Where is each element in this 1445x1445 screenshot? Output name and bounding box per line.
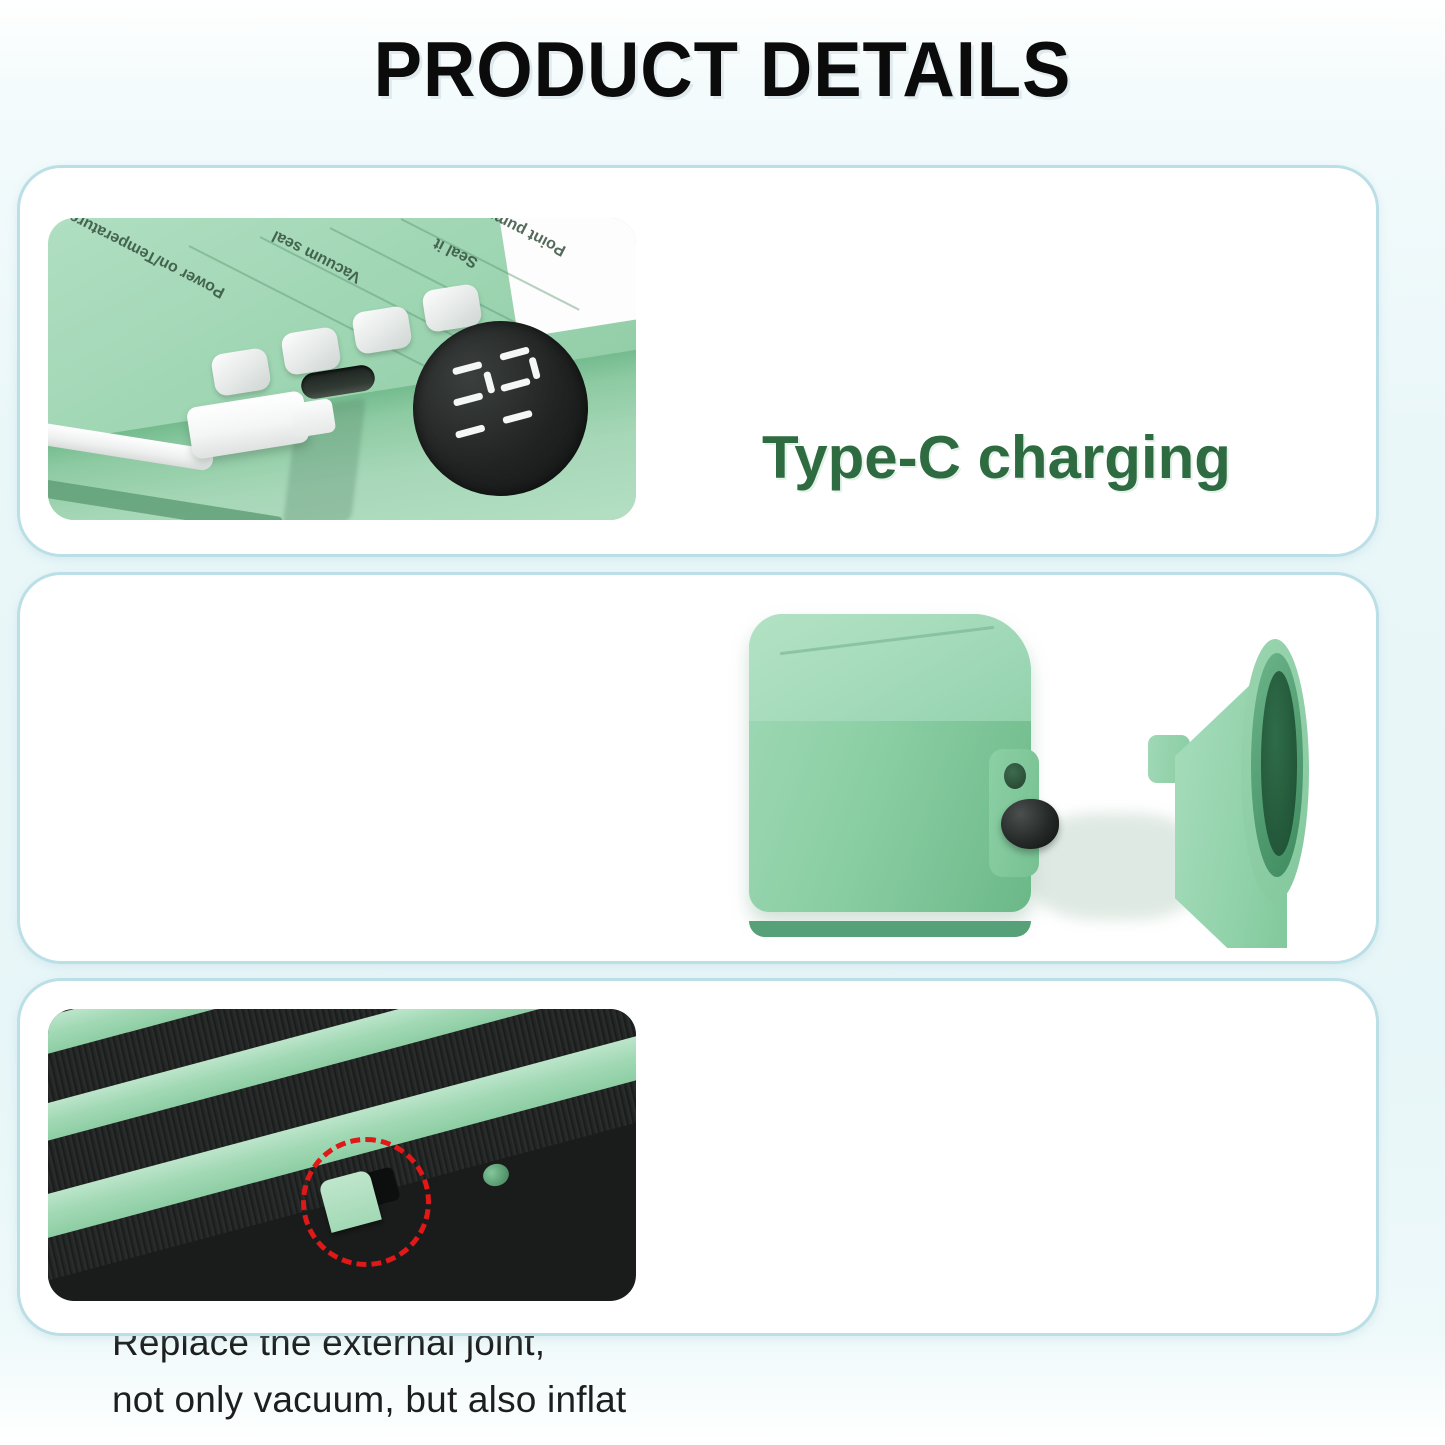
product-photo-outer-joint	[725, 593, 1325, 948]
detail-card-bag-clip-design: Bag clip design Card bag mouth, accurate…	[17, 978, 1379, 1336]
display-segment	[528, 356, 540, 379]
product-details-page: PRODUCT DETAILS Power on/Temperature Vac…	[0, 0, 1445, 1445]
display-segment	[483, 371, 495, 394]
funnel-nozzle-opening	[1261, 671, 1297, 856]
card-heading-type-c-charging: Type-C charging	[762, 426, 1231, 489]
device-button-seal-it[interactable]	[351, 304, 413, 354]
display-segment	[451, 360, 482, 375]
display-segment	[452, 392, 483, 407]
display-segment	[501, 409, 532, 424]
page-title: PRODUCT DETAILS	[51, 24, 1395, 115]
device-button-power[interactable]	[210, 347, 272, 397]
red-dashed-circle-annotation-icon	[301, 1137, 431, 1267]
display-segment	[454, 424, 485, 439]
display-segment	[498, 346, 529, 361]
usb-c-plug-tip	[290, 398, 337, 438]
text-block-type-c-charging: Type-C charging	[762, 426, 1231, 489]
card-body-line: not only vacuum, but also inflat	[112, 1371, 626, 1428]
detail-card-outer-joint: Outer joint Replace the external joint, …	[17, 572, 1379, 964]
display-segment	[500, 377, 531, 392]
sealer-top-face	[749, 614, 1031, 721]
black-rubber-plug	[1001, 799, 1059, 849]
product-photo-bag-clip-design	[48, 1009, 636, 1301]
device-button-vacuum-seal[interactable]	[280, 326, 342, 376]
detail-card-type-c-charging: Power on/Temperature Vacuum seal Seal it…	[17, 165, 1379, 557]
product-photo-type-c-charging: Power on/Temperature Vacuum seal Seal it…	[48, 218, 636, 520]
sealer-base-band	[749, 921, 1031, 937]
